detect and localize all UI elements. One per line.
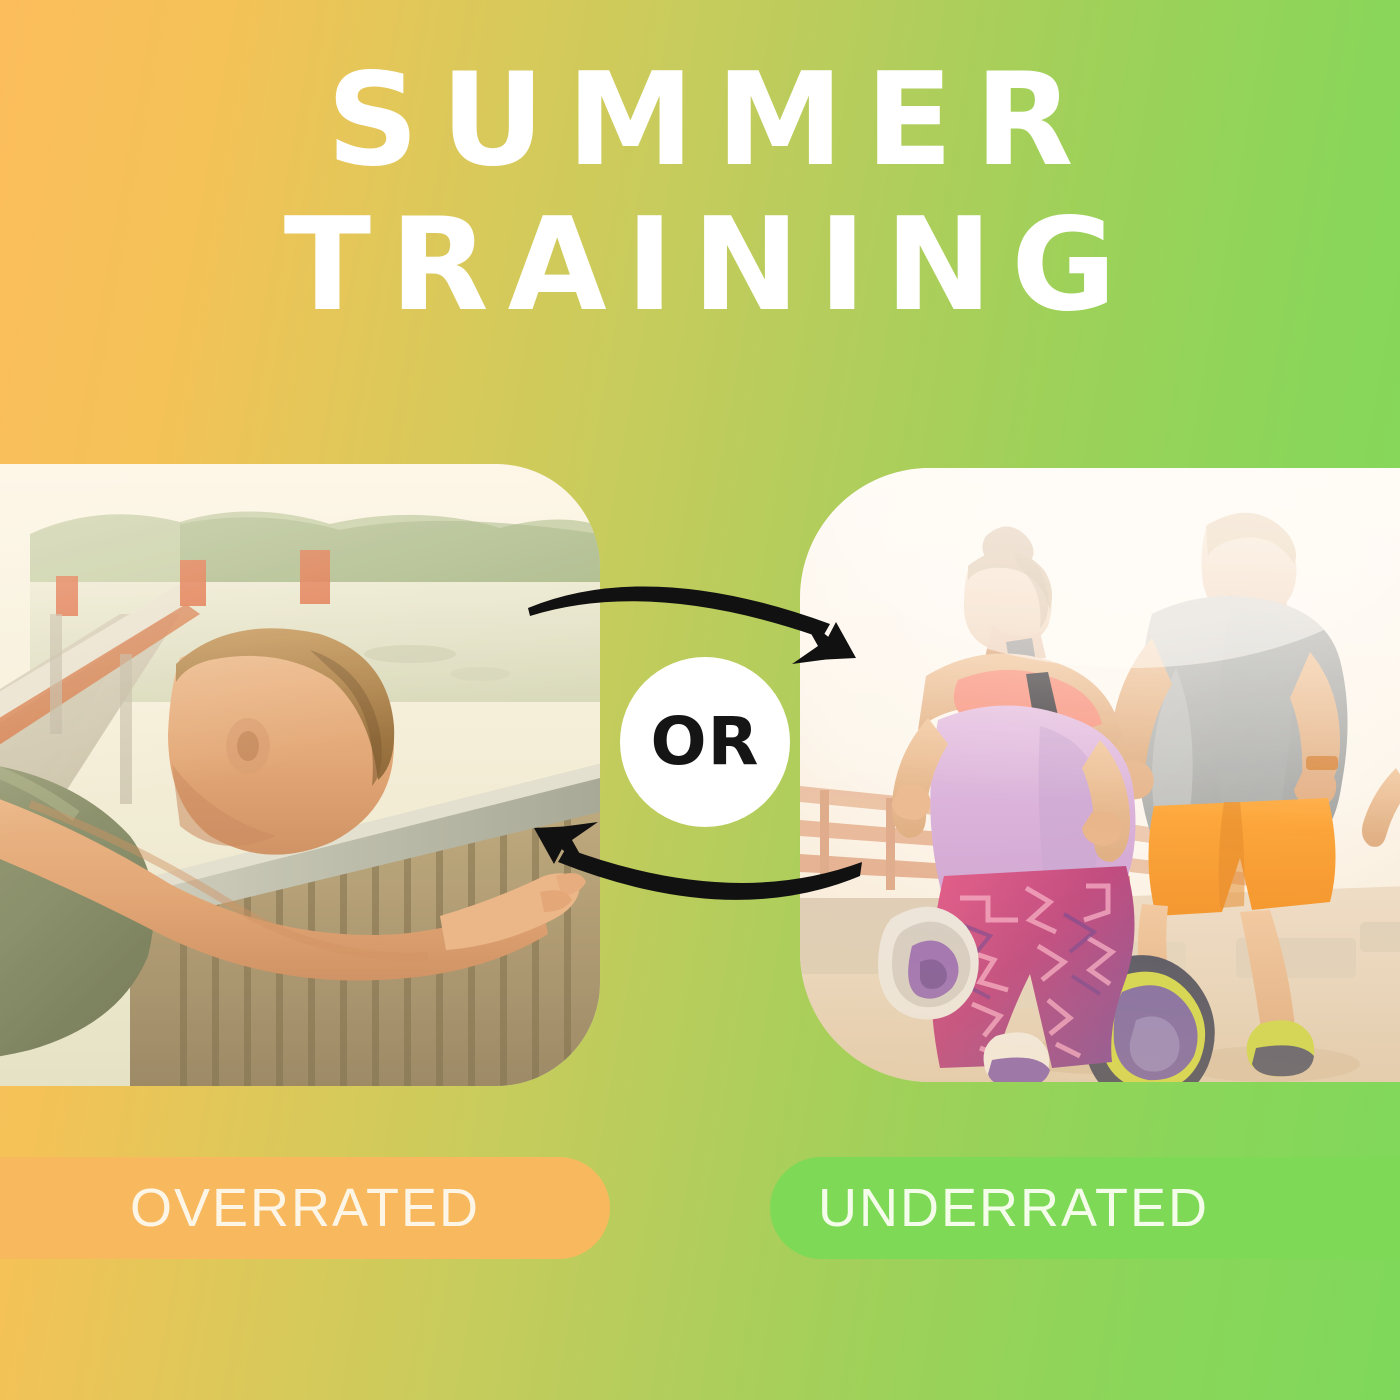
exhausted-runner-photo <box>0 464 600 1086</box>
poster-canvas: SUMMER TRAINING <box>0 0 1400 1400</box>
option-underrated-pill[interactable]: UNDERRATED <box>770 1157 1400 1259</box>
option-underrated-label: UNDERRATED <box>818 1177 1209 1239</box>
title-line-summer: SUMMER <box>0 58 1400 183</box>
option-overrated-label: OVERRATED <box>130 1177 480 1239</box>
or-label: OR <box>651 709 760 775</box>
title-line-training: TRAINING <box>0 203 1400 328</box>
group-running-photo <box>800 468 1400 1082</box>
page-title: SUMMER TRAINING <box>0 58 1400 329</box>
exhausted-runner-photo-card[interactable] <box>0 464 600 1086</box>
or-badge: OR <box>620 657 790 827</box>
option-overrated-pill[interactable]: OVERRATED <box>0 1157 610 1259</box>
group-running-photo-card[interactable] <box>800 468 1400 1082</box>
